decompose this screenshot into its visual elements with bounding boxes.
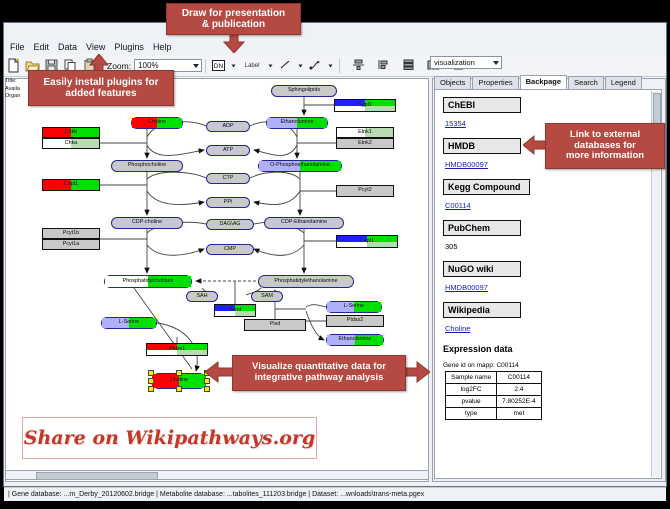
node-label: Pcyt1b — [63, 231, 79, 236]
table-cell-value: 2.4 — [497, 384, 542, 396]
node-label: Ethanolamine — [281, 120, 314, 125]
pathway-node-choline[interactable]: Choline — [131, 117, 183, 129]
interaction-tool[interactable] — [308, 58, 323, 73]
database-name-pubchem: PubChem — [443, 220, 521, 236]
tab-objects[interactable]: Objects — [434, 76, 471, 89]
node-label: CMP — [224, 247, 236, 252]
interaction-dropdown-icon[interactable] — [327, 58, 334, 73]
pathway-node-sphingolipids[interactable]: Sphingolipids — [271, 85, 337, 97]
node-label: Cept1 — [360, 239, 374, 244]
pathway-node-ethanolamine2[interactable]: Ethanolamine — [326, 334, 384, 346]
pathway-node-pisd[interactable]: Pisd — [244, 319, 306, 331]
pathway-node-cmp[interactable]: CMP — [206, 244, 254, 255]
panel-tab-bar: Objects Properties Backpage Search Legen… — [434, 76, 643, 89]
pathway-node-lserine2[interactable]: L-Serine — [326, 301, 382, 313]
align-left-icon[interactable] — [376, 58, 391, 73]
database-link[interactable]: C00114 — [445, 201, 471, 210]
table-cell-value: C00114 — [497, 372, 542, 384]
datanode-tool[interactable]: DN — [211, 58, 226, 73]
database-name-hmdb: HMDB — [443, 138, 521, 154]
pathway-node-ptdss2[interactable]: Ptdss2 — [326, 315, 384, 327]
pathway-node-chka[interactable]: Chka — [42, 138, 100, 149]
tab-backpage[interactable]: Backpage — [520, 75, 567, 89]
node-label: Chka — [65, 141, 78, 146]
chevron-down-icon — [493, 61, 499, 65]
pathway-node-atp[interactable]: ATP — [206, 145, 250, 156]
callout-plugins-text: Easily install plugins for added feature… — [43, 77, 158, 100]
menu-item-file[interactable]: File — [10, 42, 25, 52]
node-label: Pisd — [270, 322, 281, 327]
node-label: ATP — [223, 148, 233, 153]
node-label: SAM — [261, 294, 273, 299]
tab-search[interactable]: Search — [568, 76, 604, 89]
pathway-node-phosphocholine[interactable]: Phosphocholine — [111, 160, 183, 172]
database-name-nugo-wiki: NuGO wiki — [443, 261, 521, 277]
table-cell-key: Sample name — [446, 372, 497, 384]
node-label: Choline — [148, 120, 166, 125]
table-row: typemet — [446, 408, 542, 420]
node-label: Pemt — [229, 308, 242, 313]
node-label: Ptdss1 — [169, 347, 185, 352]
pathway-node-pcyt2[interactable]: Pcyt2 — [336, 185, 394, 197]
pathway-node-ptdethanolamine[interactable]: Phosphatidylethanolamine — [258, 275, 354, 288]
menu-item-help[interactable]: Help — [153, 42, 172, 52]
zoom-label: Zoom: — [107, 61, 131, 71]
pathway-node-cept1[interactable]: Cept1 — [336, 235, 398, 248]
database-value: 305 — [445, 242, 458, 251]
align-top-icon[interactable] — [351, 58, 366, 73]
pathway-node-cdpeth[interactable]: CDP-Ethanolamine — [264, 217, 344, 229]
tab-legend[interactable]: Legend — [605, 76, 642, 89]
callout-visualize: Visualize quantitative data for integrat… — [232, 355, 406, 391]
menu-item-data[interactable]: Data — [58, 42, 77, 52]
table-row: Sample nameC00114 — [446, 372, 542, 384]
callout-plugins: Easily install plugins for added feature… — [28, 70, 174, 106]
pathway-node-ppi[interactable]: PPi — [206, 197, 250, 208]
tab-properties[interactable]: Properties — [472, 76, 518, 89]
chevron-down-icon — [193, 64, 199, 68]
node-label: Pcyt1a — [63, 242, 79, 247]
selection-handle[interactable] — [176, 370, 182, 376]
pathway-node-etnk1[interactable]: Etnk1 — [336, 127, 394, 138]
line-tool[interactable] — [278, 58, 293, 73]
database-name-chebi: ChEBI — [443, 97, 521, 113]
menu-bar: File Edit Data View Plugins Help — [4, 40, 666, 54]
node-label: Chkb — [65, 130, 78, 135]
node-label: L-Serine — [119, 320, 139, 325]
node-label: Ptdss2 — [347, 318, 363, 323]
node-label: Etnk2 — [358, 141, 372, 146]
node-label: Phosphatidylcholines — [123, 279, 174, 284]
database-name-kegg-compound: Kegg Compound — [443, 179, 530, 195]
node-label: Phosphocholine — [128, 163, 166, 168]
node-label: O-Phosphoethanolamine — [270, 163, 330, 168]
stack-icon[interactable] — [401, 58, 416, 73]
node-label: ADP — [222, 124, 233, 129]
scrollbar-thumb[interactable] — [36, 472, 158, 480]
callout-draw-text: Draw for presentation & publication — [182, 8, 285, 31]
toolbar-separator-2 — [339, 59, 340, 73]
pathway-node-sah[interactable]: SAH — [186, 291, 218, 302]
database-link[interactable]: HMDB00097 — [445, 283, 488, 292]
callout-link: Link to external databases for more info… — [545, 123, 665, 169]
selection-handle[interactable] — [204, 386, 210, 392]
menu-item-view[interactable]: View — [86, 42, 105, 52]
pathway-node-pcyt1b[interactable]: Pcyt1b — [42, 228, 100, 239]
status-bar: | Gene database: ...m_Derby_20120602.bri… — [4, 487, 666, 501]
node-label: CDP-Ethanolamine — [281, 220, 327, 225]
pathway-node-ophosphoeth[interactable]: O-Phosphoethanolamine — [258, 160, 342, 172]
label-tool-text: Label — [245, 63, 260, 69]
callout-draw: Draw for presentation & publication — [166, 3, 301, 35]
pathway-node-sgpl1[interactable]: Sgpl1 — [334, 99, 396, 112]
canvas-horizontal-scrollbar[interactable] — [5, 470, 429, 480]
menu-item-edit[interactable]: Edit — [34, 42, 50, 52]
pathway-node-ptdss1[interactable]: Ptdss1 — [146, 343, 208, 356]
table-cell-key: type — [446, 408, 497, 420]
new-file-icon[interactable] — [6, 58, 21, 73]
callout-share: Share on Wikipathways.org — [22, 417, 317, 459]
node-label: Chpt1 — [64, 182, 78, 187]
pathway-node-chpt1[interactable]: Chpt1 — [42, 179, 100, 191]
node-label: Phosphatidylethanolamine — [274, 279, 337, 284]
database-link[interactable]: Choline — [445, 324, 470, 333]
line-dropdown-icon[interactable] — [297, 58, 304, 73]
datanode-dropdown-icon[interactable] — [230, 58, 237, 73]
database-entry: Kegg CompoundC00114 — [435, 172, 661, 213]
pathway-node-dagiag[interactable]: DAG\AG — [206, 219, 254, 230]
status-text: | Gene database: ...m_Derby_20120602.bri… — [8, 491, 424, 498]
pathway-node-chkb[interactable]: Chkb — [42, 127, 100, 138]
node-label: SAH — [196, 294, 207, 299]
selection-handle[interactable] — [148, 370, 154, 376]
pathway-node-adp[interactable]: ADP — [206, 121, 250, 132]
node-label: L-Serine — [344, 304, 364, 309]
visualization-value: visualization — [434, 58, 475, 67]
svg-text:DN: DN — [214, 63, 224, 70]
pathway-node-lserine1[interactable]: L-Serine — [101, 317, 157, 329]
database-entry: PubChem305 — [435, 213, 661, 254]
database-name-wikipedia: Wikipedia — [443, 302, 521, 318]
table-cell-key: pvalue — [446, 396, 497, 408]
node-label: Sphingolipids — [288, 88, 320, 93]
database-link[interactable]: HMDB00097 — [445, 160, 488, 169]
visualization-select[interactable]: visualization — [430, 56, 502, 69]
pathway-node-pemt[interactable]: Pemt — [214, 304, 256, 317]
node-label: Ethanolamine — [339, 337, 372, 342]
table-row: log2FC2.4 — [446, 384, 542, 396]
node-label: DAG\AG — [220, 222, 241, 227]
pathway-node-cdpcholine[interactable]: CDP-choline — [111, 217, 183, 229]
node-label: CTP — [223, 176, 234, 181]
pathway-node-ctp[interactable]: CTP — [206, 173, 250, 184]
selection-handle[interactable] — [148, 378, 154, 384]
node-label: Choline — [170, 378, 188, 383]
selection-handle[interactable] — [176, 386, 182, 392]
node-label: Sgpl1 — [358, 103, 372, 108]
pathway-node-etnk2[interactable]: Etnk2 — [336, 138, 394, 149]
zoom-value: 100% — [138, 61, 158, 70]
label-tool[interactable]: Label — [241, 58, 263, 73]
pathway-node-ethanolamine[interactable]: Ethanolamine — [266, 117, 328, 129]
callout-visualize-text: Visualize quantitative data for integrat… — [252, 362, 386, 384]
pathway-node-sam[interactable]: SAM — [251, 291, 283, 302]
menu-item-plugins[interactable]: Plugins — [114, 42, 144, 52]
application-window: Mm_Kennedy_pathway_WP1771_45176.gpml Fil… — [0, 0, 670, 509]
table-cell-value: met — [497, 408, 542, 420]
pathway-node-pcyt1a[interactable]: Pcyt1a — [42, 239, 100, 250]
table-cell-key: log2FC — [446, 384, 497, 396]
expression-data-heading: Expression data — [443, 344, 661, 354]
node-label: Pcyt2 — [358, 188, 371, 193]
database-link[interactable]: 15354 — [445, 119, 466, 128]
callout-link-text: Link to external databases for more info… — [566, 130, 644, 163]
database-entry: WikipediaCholine — [435, 295, 661, 336]
node-label: Etnk1 — [358, 130, 372, 135]
database-entry: NuGO wikiHMDB00097 — [435, 254, 661, 295]
table-row: pvalue7.80252E-4 — [446, 396, 542, 408]
expression-data-table: Sample nameC00114log2FC2.4pvalue7.80252E… — [445, 371, 542, 420]
table-cell-value: 7.80252E-4 — [497, 396, 542, 408]
pathway-node-ptdcholines[interactable]: Phosphatidylcholines — [104, 275, 192, 288]
node-label: PPi — [224, 200, 232, 205]
gene-id-label: Gene id on mapp: C00114 — [443, 362, 661, 369]
label-dropdown-icon[interactable] — [267, 58, 274, 73]
node-label: CDP-choline — [132, 220, 162, 225]
toolbar-separator — [205, 59, 206, 73]
selection-handle[interactable] — [148, 386, 154, 392]
callout-share-text: Share on Wikipathways.org — [24, 427, 315, 449]
